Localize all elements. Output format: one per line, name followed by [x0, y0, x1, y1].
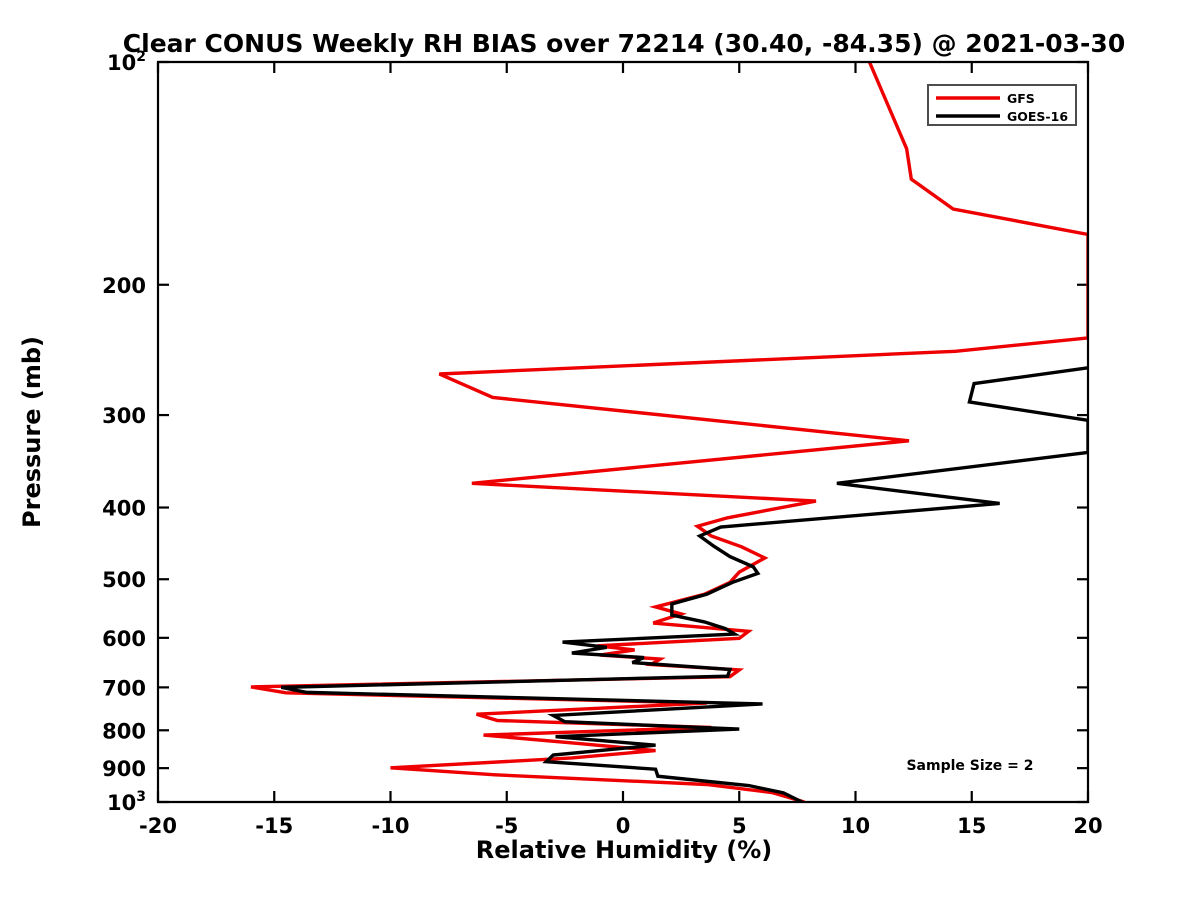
y-tick-label: 102	[107, 49, 146, 75]
x-tick-label: -20	[139, 814, 177, 838]
x-tick-label: -10	[372, 814, 410, 838]
data-series-group	[251, 62, 1088, 802]
y-tick-label: 800	[102, 719, 146, 743]
y-tick-label: 900	[102, 757, 146, 781]
y-tick-label: 200	[102, 274, 146, 298]
x-tick-label: 10	[841, 814, 870, 838]
series-line-gfs	[251, 62, 1088, 802]
y-tick-label: 103	[107, 789, 146, 815]
rh-bias-profile-chart: Clear CONUS Weekly RH BIAS over 72214 (3…	[0, 0, 1200, 900]
x-tick-label: 20	[1073, 814, 1102, 838]
y-tick-label: 700	[102, 676, 146, 700]
x-tick-label: 0	[616, 814, 631, 838]
x-tick-label: 5	[732, 814, 747, 838]
sample-size-annotation: Sample Size = 2	[906, 758, 1033, 774]
legend-label-gfs: GFS	[1007, 91, 1035, 106]
x-tick-label: 15	[957, 814, 986, 838]
legend-label-goes-16: GOES-16	[1007, 109, 1068, 124]
chart-title: Clear CONUS Weekly RH BIAS over 72214 (3…	[123, 29, 1125, 58]
y-tick-label: 500	[102, 568, 146, 592]
x-tick-label: -5	[495, 814, 518, 838]
y-tick-label: 400	[102, 497, 146, 521]
y-tick-label: 300	[102, 404, 146, 428]
y-axis-label: Pressure (mb)	[18, 336, 46, 528]
x-tick-label: -15	[255, 814, 293, 838]
y-tick-label: 600	[102, 627, 146, 651]
figure-canvas: Clear CONUS Weekly RH BIAS over 72214 (3…	[0, 0, 1200, 900]
series-line-goes-16	[281, 368, 1088, 802]
x-axis-label: Relative Humidity (%)	[476, 836, 772, 864]
x-axis-ticks: -20-15-10-505101520	[139, 62, 1103, 838]
chart-legend[interactable]: GFSGOES-16	[928, 85, 1076, 125]
